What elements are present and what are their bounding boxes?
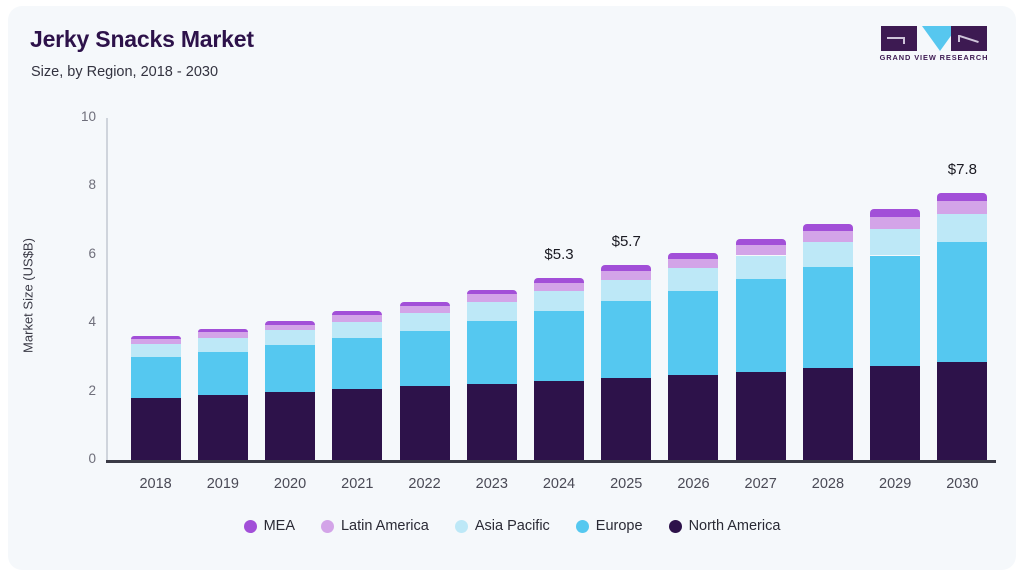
bar-segment[interactable] bbox=[668, 259, 718, 269]
x-axis-line bbox=[106, 460, 996, 463]
legend-swatch-icon bbox=[321, 520, 334, 533]
bar-segment[interactable] bbox=[400, 386, 450, 460]
bar-segment[interactable] bbox=[937, 214, 987, 242]
bar-value-label: $7.8 bbox=[917, 161, 1007, 178]
bar-segment[interactable] bbox=[601, 265, 651, 270]
bar-segment[interactable] bbox=[400, 306, 450, 313]
y-axis-tick-label: 2 bbox=[56, 383, 96, 398]
bar-segment[interactable] bbox=[736, 279, 786, 371]
bar-segment[interactable] bbox=[534, 283, 584, 291]
y-axis-tick-label: 4 bbox=[56, 314, 96, 329]
x-axis-tick-label: 2030 bbox=[917, 476, 1007, 492]
bar-segment[interactable] bbox=[265, 321, 315, 324]
bar-segment[interactable] bbox=[534, 291, 584, 311]
bar-segment[interactable] bbox=[601, 301, 651, 378]
bar-segment[interactable] bbox=[668, 375, 718, 461]
bar-group[interactable] bbox=[332, 118, 382, 460]
bar-segment[interactable] bbox=[400, 302, 450, 306]
bar-segment[interactable] bbox=[131, 344, 181, 357]
legend-item[interactable]: North America bbox=[669, 518, 781, 534]
bar-segment[interactable] bbox=[736, 372, 786, 460]
legend-label: Asia Pacific bbox=[475, 518, 550, 534]
bar-segment[interactable] bbox=[736, 239, 786, 245]
bar-segment[interactable] bbox=[870, 256, 920, 366]
bar-segment[interactable] bbox=[265, 330, 315, 345]
bar-group[interactable] bbox=[870, 118, 920, 460]
bar-segment[interactable] bbox=[803, 242, 853, 267]
bar-segment[interactable] bbox=[131, 339, 181, 344]
bar-group[interactable] bbox=[198, 118, 248, 460]
legend-item[interactable]: MEA bbox=[244, 518, 295, 534]
bar-segment[interactable] bbox=[131, 398, 181, 460]
bar-segment[interactable] bbox=[467, 384, 517, 460]
y-axis-tick-label: 0 bbox=[56, 451, 96, 466]
bar-segment[interactable] bbox=[937, 201, 987, 214]
bar-segment[interactable] bbox=[803, 231, 853, 242]
legend-swatch-icon bbox=[455, 520, 468, 533]
bar-segment[interactable] bbox=[803, 224, 853, 231]
bar-segment[interactable] bbox=[534, 311, 584, 381]
bar-group[interactable] bbox=[131, 118, 181, 460]
bar-segment[interactable] bbox=[332, 338, 382, 389]
bar-segment[interactable] bbox=[198, 395, 248, 460]
y-axis-title: Market Size (US$B) bbox=[21, 116, 36, 476]
bar-segment[interactable] bbox=[332, 322, 382, 338]
legend-item[interactable]: Europe bbox=[576, 518, 643, 534]
bar-group[interactable] bbox=[736, 118, 786, 460]
bar-segment[interactable] bbox=[467, 321, 517, 384]
bar-segment[interactable] bbox=[400, 313, 450, 331]
bar-segment[interactable] bbox=[736, 256, 786, 280]
bar-group[interactable] bbox=[668, 118, 718, 460]
bar-segment[interactable] bbox=[198, 332, 248, 337]
bar-segment[interactable] bbox=[332, 315, 382, 321]
bar-group[interactable] bbox=[803, 118, 853, 460]
chart-card: Jerky Snacks Market Size, by Region, 201… bbox=[8, 6, 1016, 570]
bar-segment[interactable] bbox=[534, 278, 584, 283]
bar-group[interactable] bbox=[265, 118, 315, 460]
legend-label: Europe bbox=[596, 518, 643, 534]
bar-group[interactable] bbox=[467, 118, 517, 460]
bar-segment[interactable] bbox=[265, 392, 315, 460]
legend-item[interactable]: Asia Pacific bbox=[455, 518, 550, 534]
bar-segment[interactable] bbox=[668, 291, 718, 375]
bar-group[interactable] bbox=[534, 118, 584, 460]
bar-segment[interactable] bbox=[332, 311, 382, 315]
bar-segment[interactable] bbox=[467, 302, 517, 321]
bar-segment[interactable] bbox=[601, 378, 651, 460]
bar-segment[interactable] bbox=[467, 294, 517, 302]
bar-segment[interactable] bbox=[870, 217, 920, 229]
bar-segment[interactable] bbox=[937, 242, 987, 362]
bar-segment[interactable] bbox=[131, 336, 181, 339]
legend-label: North America bbox=[689, 518, 781, 534]
bar-segment[interactable] bbox=[803, 267, 853, 368]
bar-segment[interactable] bbox=[534, 381, 584, 460]
bar-segment[interactable] bbox=[198, 352, 248, 395]
legend-label: Latin America bbox=[341, 518, 429, 534]
bar-segment[interactable] bbox=[870, 229, 920, 256]
bar-segment[interactable] bbox=[198, 329, 248, 332]
legend-item[interactable]: Latin America bbox=[321, 518, 429, 534]
bar-segment[interactable] bbox=[265, 345, 315, 392]
stacked-bar-chart: Market Size (US$B) 0246810 2018201920202… bbox=[8, 6, 1016, 570]
bar-group[interactable] bbox=[400, 118, 450, 460]
bar-segment[interactable] bbox=[668, 253, 718, 259]
y-axis-tick-label: 10 bbox=[56, 109, 96, 124]
legend-swatch-icon bbox=[244, 520, 257, 533]
bar-segment[interactable] bbox=[400, 331, 450, 386]
bar-segment[interactable] bbox=[265, 325, 315, 331]
bar-segment[interactable] bbox=[937, 193, 987, 201]
bar-segment[interactable] bbox=[467, 290, 517, 294]
bar-segment[interactable] bbox=[198, 338, 248, 352]
y-axis-line bbox=[106, 118, 108, 461]
bar-group[interactable] bbox=[601, 118, 651, 460]
bar-segment[interactable] bbox=[601, 271, 651, 280]
bar-segment[interactable] bbox=[736, 245, 786, 255]
bar-segment[interactable] bbox=[668, 268, 718, 291]
bar-segment[interactable] bbox=[870, 366, 920, 460]
chart-legend: MEALatin AmericaAsia PacificEuropeNorth … bbox=[8, 518, 1016, 534]
bar-value-label: $5.7 bbox=[581, 233, 671, 250]
y-axis-tick-label: 8 bbox=[56, 177, 96, 192]
y-axis-tick-label: 6 bbox=[56, 246, 96, 261]
legend-label: MEA bbox=[264, 518, 295, 534]
bar-segment[interactable] bbox=[601, 280, 651, 301]
legend-swatch-icon bbox=[669, 520, 682, 533]
bar-segment[interactable] bbox=[131, 357, 181, 398]
legend-swatch-icon bbox=[576, 520, 589, 533]
bar-segment[interactable] bbox=[332, 389, 382, 460]
bar-segment[interactable] bbox=[803, 368, 853, 460]
bar-segment[interactable] bbox=[870, 209, 920, 217]
bar-segment[interactable] bbox=[937, 362, 987, 460]
